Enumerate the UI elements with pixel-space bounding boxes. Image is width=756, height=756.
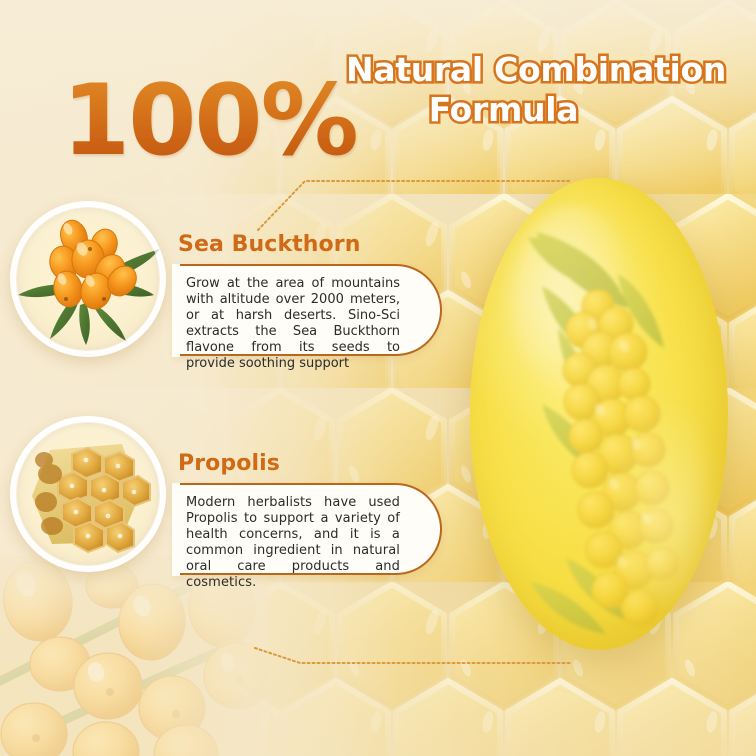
capsule-secondary-highlight bbox=[604, 386, 712, 603]
poster-canvas: 100% Natural Combination Formula bbox=[0, 0, 756, 756]
sea-buckthorn-title: Sea Buckthorn bbox=[178, 232, 360, 257]
propolis-panel: Modern herbalists have used Propolis to … bbox=[174, 483, 442, 575]
headline-line-2: Formula bbox=[346, 90, 661, 130]
softgel-capsule bbox=[470, 178, 728, 650]
propolis-title: Propolis bbox=[178, 451, 280, 476]
headline: 100% Natural Combination Formula bbox=[0, 38, 756, 148]
sea-buckthorn-panel: Grow at the area of mountains with altit… bbox=[174, 264, 442, 356]
propolis-body: Modern herbalists have used Propolis to … bbox=[174, 485, 440, 599]
headline-text: Natural Combination Formula bbox=[346, 50, 746, 131]
percent-text: 100% bbox=[62, 72, 357, 170]
sea-buckthorn-image bbox=[10, 201, 166, 357]
headline-line-1: Natural Combination bbox=[346, 50, 726, 89]
propolis-image bbox=[10, 416, 166, 572]
sea-buckthorn-body: Grow at the area of mountains with altit… bbox=[174, 266, 440, 380]
